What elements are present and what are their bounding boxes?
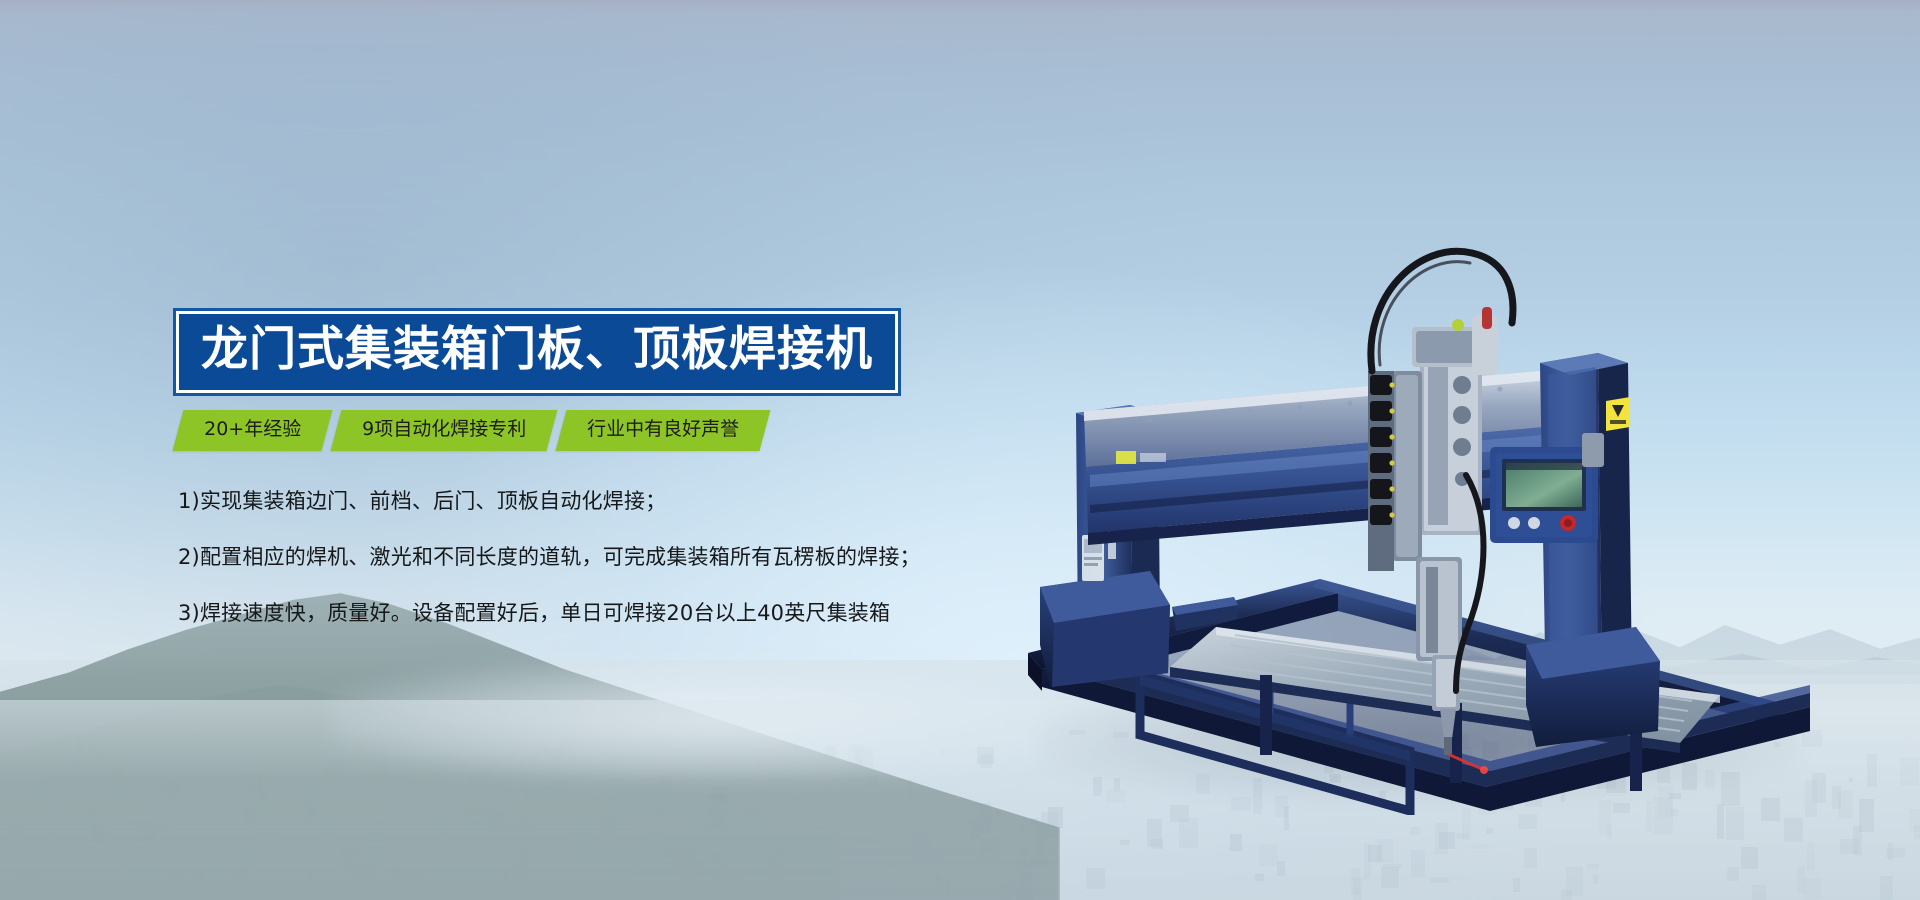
feature-tag-label: 20+年经验 <box>204 417 301 443</box>
feature-tag-list: 20+年经验 9项自动化焊接专利 行业中有良好声誉 <box>178 410 765 451</box>
hero-banner: 龙门式集装箱门板、顶板焊接机 20+年经验 9项自动化焊接专利 行业中有良好声誉… <box>0 0 1920 900</box>
feature-tag-label: 行业中有良好声誉 <box>587 417 739 443</box>
product-photo-gantry-welder <box>1020 175 1830 815</box>
banner-content: 龙门式集装箱门板、顶板焊接机 20+年经验 9项自动化焊接专利 行业中有良好声誉… <box>0 0 1100 900</box>
list-item: 1)实现集装箱边门、前档、后门、顶板自动化焊接； <box>178 485 921 515</box>
list-item: 3)焊接速度快，质量好。设备配置好后，单日可焊接20台以上40英尺集装箱 <box>178 597 921 627</box>
list-item: 2)配置相应的焊机、激光和不同长度的道轨，可完成集装箱所有瓦楞板的焊接； <box>178 541 921 571</box>
feature-tag-reputation[interactable]: 行业中有良好声誉 <box>556 410 771 451</box>
banner-title-box: 龙门式集装箱门板、顶板焊接机 <box>176 311 898 393</box>
feature-tag-label: 9项自动化焊接专利 <box>362 417 526 443</box>
page-title: 龙门式集装箱门板、顶板焊接机 <box>201 322 873 377</box>
feature-bullet-list: 1)实现集装箱边门、前档、后门、顶板自动化焊接； 2)配置相应的焊机、激光和不同… <box>178 485 921 627</box>
feature-tag-experience[interactable]: 20+年经验 <box>173 410 333 451</box>
feature-tag-patents[interactable]: 9项自动化焊接专利 <box>331 410 558 451</box>
